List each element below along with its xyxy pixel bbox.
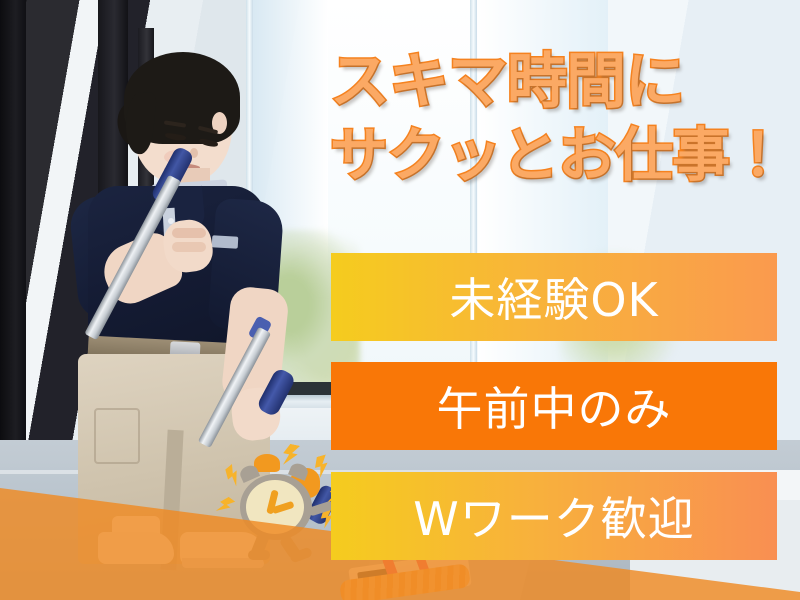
cargo-pocket xyxy=(94,408,140,464)
feature-bar-morning-only: 午前中のみ xyxy=(331,362,777,450)
mascot-accent-blob-a xyxy=(254,454,280,472)
dark-door-panel-left xyxy=(0,0,26,470)
headline-line-1: スキマ時間に xyxy=(330,52,790,112)
feature-bar-inexperienced-ok: 未経験OK xyxy=(331,253,777,341)
feature-bar-label: 午前中のみ xyxy=(437,373,672,439)
knuckle-line-lower xyxy=(172,242,206,252)
uniform-logo xyxy=(212,235,239,248)
feature-bar-label: 未経験OK xyxy=(449,264,658,330)
headline-line-2: サクッとお仕事！ xyxy=(330,126,790,184)
feature-bar-label: Wワーク歓迎 xyxy=(413,483,694,549)
headline: スキマ時間に サクッとお仕事！ xyxy=(330,52,790,184)
knuckle-line-upper xyxy=(172,228,206,238)
feature-bar-double-work-welcome: Wワーク歓迎 xyxy=(331,472,777,560)
recruitment-banner: スキマ時間に サクッとお仕事！ 未経験OK 午前中のみ Wワーク歓迎 xyxy=(0,0,800,600)
